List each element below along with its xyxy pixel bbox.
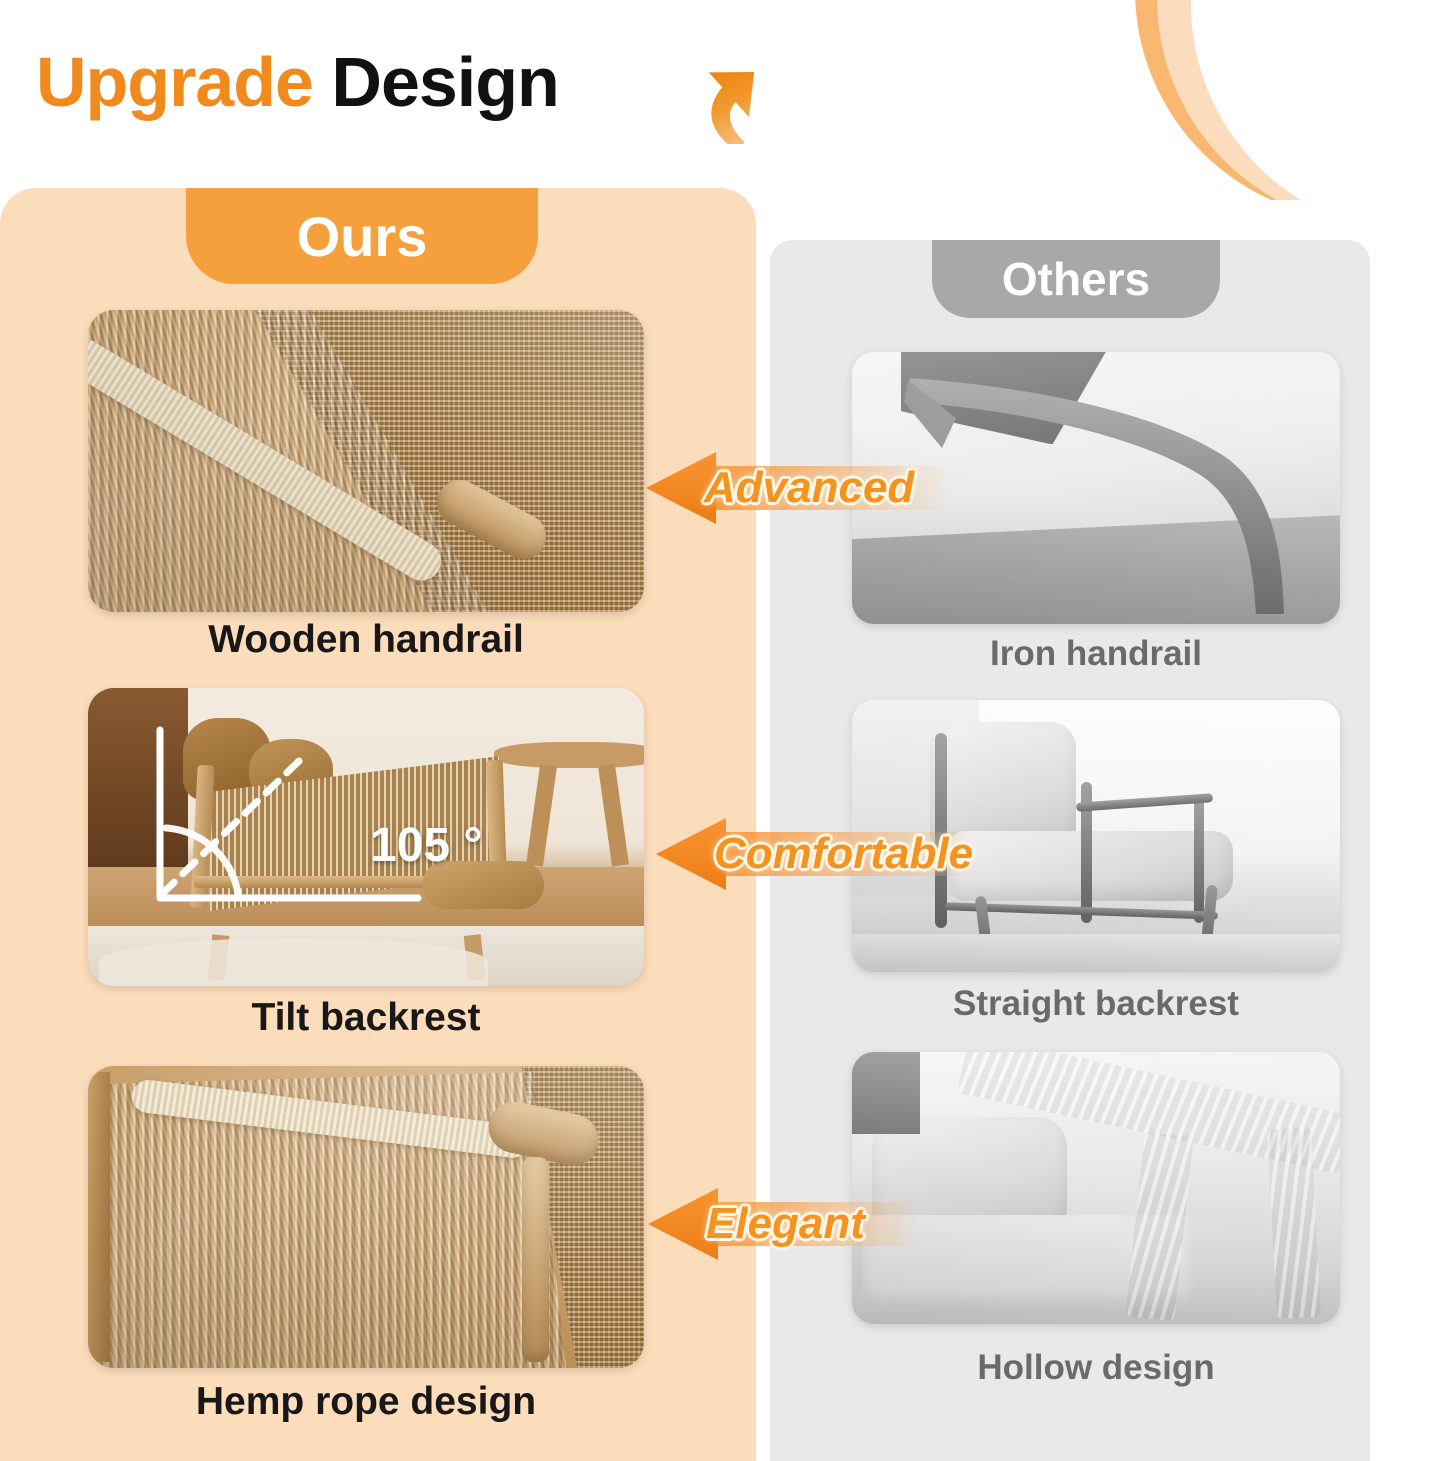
ours-photo-wooden-handrail <box>88 310 644 612</box>
ours-photo-hemp-rope-design <box>88 1066 644 1368</box>
ours-caption-tilt-backrest: Tilt backrest <box>88 996 644 1040</box>
title-upgrade: Upgrade <box>36 43 313 121</box>
callout-comfortable: Comfortable <box>656 818 974 890</box>
others-caption-iron-handrail: Iron handrail <box>852 634 1340 674</box>
callout-elegant: Elegant <box>648 1188 918 1260</box>
others-caption-straight-backrest: Straight backrest <box>852 984 1340 1024</box>
comparison-infographic: Upgrade Design Ours Others Wooden handra… <box>0 0 1445 1461</box>
others-badge: Others <box>932 240 1220 318</box>
callout-comfortable-label: Comfortable <box>714 829 973 879</box>
curved-up-arrow-icon <box>690 34 780 144</box>
angle-value-label: 105 ° <box>370 818 483 873</box>
ours-caption-hemp-rope-design: Hemp rope design <box>88 1380 644 1424</box>
title-design: Design <box>331 43 558 121</box>
callout-advanced: Advanced <box>646 452 946 524</box>
ours-photo-tilt-backrest: 105 ° <box>88 688 644 986</box>
others-badge-label: Others <box>1002 252 1150 306</box>
others-caption-hollow-design: Hollow design <box>852 1348 1340 1388</box>
ours-badge: Ours <box>186 188 538 284</box>
ours-caption-wooden-handrail: Wooden handrail <box>88 618 644 662</box>
corner-swoosh-decoration <box>1115 0 1445 200</box>
ours-badge-label: Ours <box>297 204 428 269</box>
others-photo-hollow-design <box>852 1052 1340 1324</box>
callout-elegant-label: Elegant <box>706 1199 865 1249</box>
callout-advanced-label: Advanced <box>704 463 914 513</box>
page-title: Upgrade Design <box>36 42 559 122</box>
